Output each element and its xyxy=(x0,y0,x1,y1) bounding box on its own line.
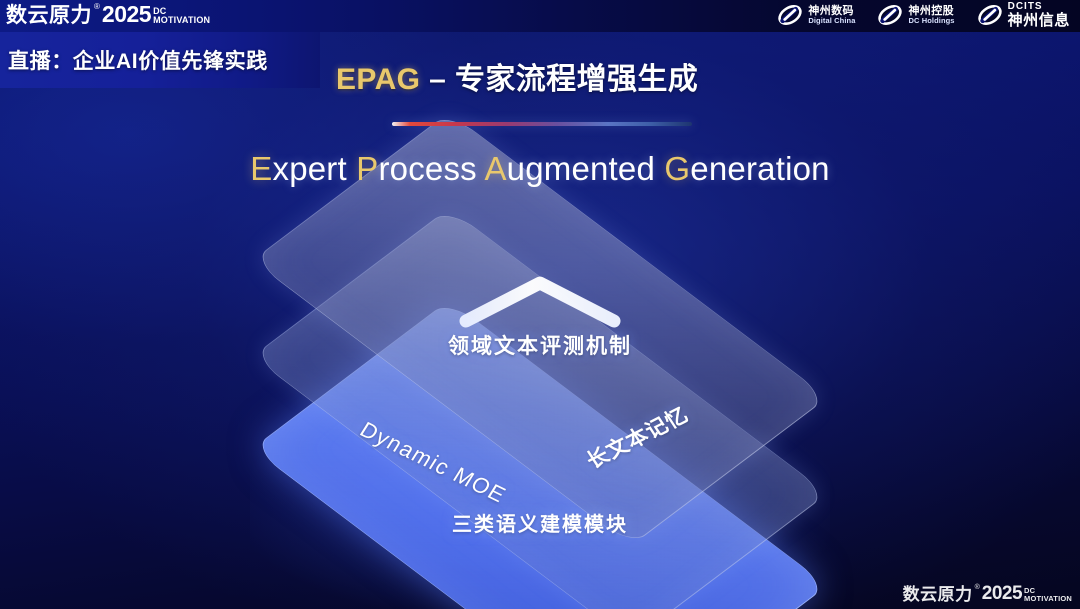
live-stream-label: 直播：企业AI价值先锋实践 xyxy=(8,45,268,75)
partner-name-en: DC Holdings xyxy=(908,17,954,25)
watermark-logo-cn: 数云原力 xyxy=(903,586,973,603)
diagram-label-top: 领域文本评测机制 xyxy=(0,330,1080,360)
page-subtitle: Expert Process Augmented Generation xyxy=(0,150,1080,188)
title-acronym: EPAG xyxy=(336,63,420,96)
swoosh-icon xyxy=(777,2,803,28)
watermark-logo-dc-line2: MOTIVATION xyxy=(1024,595,1072,603)
partner-name-cn: 神州信息 xyxy=(1008,13,1070,29)
slide-canvas: 领域文本评测机制 Dynamic MOE 长文本记忆 三类语义建模模块 EPAG… xyxy=(0,0,1080,609)
live-stream-banner: 直播：企业AI价值先锋实践 xyxy=(0,32,320,88)
brand-logo-dc: DC MOTIVATION xyxy=(153,7,210,26)
watermark-logo-year: 2025 xyxy=(982,584,1022,603)
subtitle-rest-augmented: ugmented xyxy=(507,150,655,187)
partner-name-en: Digital China xyxy=(808,17,855,25)
partner-logo-group: 神州数码 Digital China 神州控股 DC Holdings xyxy=(777,2,1070,29)
partner-logo-digital-china[interactable]: 神州数码 Digital China xyxy=(777,2,855,28)
chevron-up-icon xyxy=(458,275,622,329)
subtitle-rest-process: rocess xyxy=(378,150,476,187)
swoosh-icon xyxy=(877,2,903,28)
brand-logo-dc-line2: MOTIVATION xyxy=(153,16,210,25)
watermark-logo: 数云原力 ® 2025 DC MOTIVATION xyxy=(903,584,1072,603)
partner-text: 神州数码 Digital China xyxy=(808,6,855,26)
brand-logo: 数云原力 ® 2025 DC MOTIVATION xyxy=(6,3,210,26)
page-title: EPAG – 专家流程增强生成 xyxy=(336,54,698,98)
subtitle-cap-g: G xyxy=(664,150,690,187)
diagram-label-bottom: 三类语义建模模块 xyxy=(0,508,1080,537)
swoosh-icon xyxy=(977,2,1003,28)
partner-text: DCITS 神州信息 xyxy=(1008,2,1070,29)
subtitle-cap-e: E xyxy=(250,150,272,187)
title-divider xyxy=(392,122,692,126)
watermark-logo-registered: ® xyxy=(975,584,980,591)
subtitle-rest-expert: xpert xyxy=(273,150,347,187)
subtitle-cap-p: P xyxy=(356,150,378,187)
brand-logo-year: 2025 xyxy=(102,3,151,26)
brand-logo-cn: 数云原力 xyxy=(6,5,92,26)
partner-logo-dc-holdings[interactable]: 神州控股 DC Holdings xyxy=(877,2,954,28)
subtitle-cap-a: A xyxy=(484,150,506,187)
subtitle-rest-generation: eneration xyxy=(690,150,829,187)
title-chinese: 专家流程增强生成 xyxy=(455,63,698,96)
brand-logo-registered: ® xyxy=(94,3,100,11)
watermark-logo-dc: DC MOTIVATION xyxy=(1024,587,1072,603)
title-separator: – xyxy=(420,63,455,96)
partner-logo-dcits[interactable]: DCITS 神州信息 xyxy=(977,2,1070,29)
partner-text: 神州控股 DC Holdings xyxy=(908,6,954,26)
